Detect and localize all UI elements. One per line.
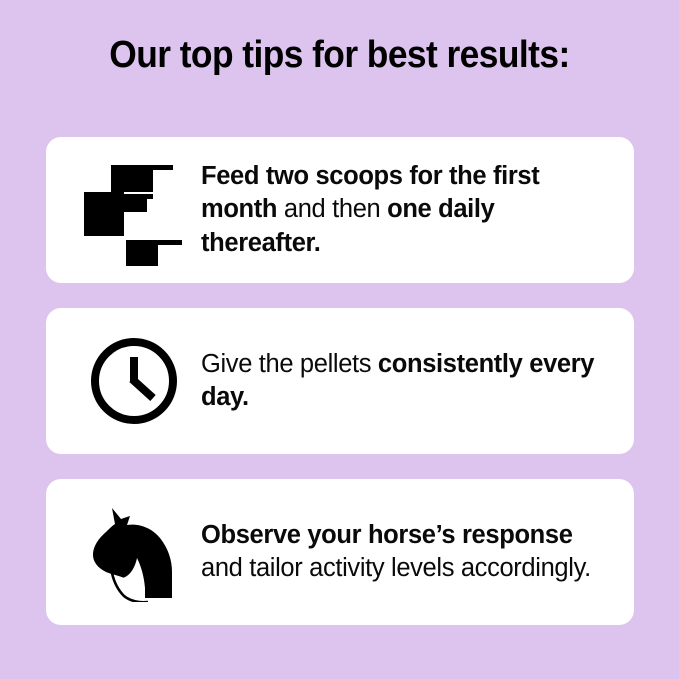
tip-text-feeding: Feed two scoops for the first month and … [201, 160, 614, 261]
clock-icon [66, 308, 201, 454]
tip-text-consistency: Give the pellets consistently every day. [201, 348, 614, 415]
tip-card-consistency: Give the pellets consistently every day. [46, 308, 634, 454]
tip-text-observation: Observe your horse’s response and tailor… [201, 519, 614, 586]
measuring-scoops-icon [66, 137, 201, 283]
tips-card-list: Feed two scoops for the first month and … [46, 137, 634, 625]
page-title: Our top tips for best results: [24, 33, 655, 77]
tip-card-observation: Observe your horse’s response and tailor… [46, 479, 634, 625]
tip-card-feeding: Feed two scoops for the first month and … [46, 137, 634, 283]
tips-infographic: Our top tips for best results: [0, 0, 679, 679]
horse-head-icon [66, 479, 201, 625]
